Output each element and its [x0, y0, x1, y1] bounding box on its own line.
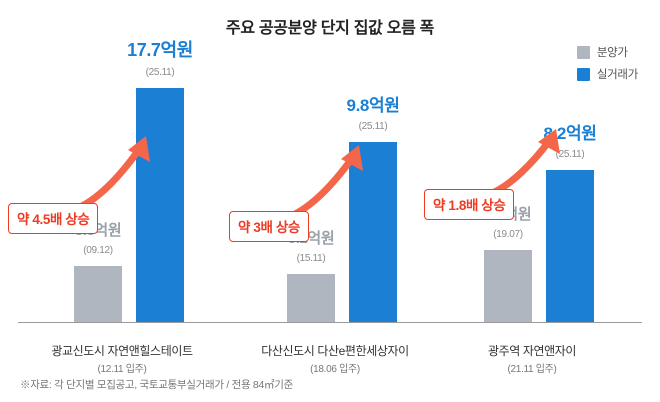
category-label: 광교신도시 자연앤힐스테이트	[22, 342, 222, 359]
bar-date-bunyangga: (19.07)	[458, 229, 558, 240]
bar-date-bunyangga: (15.11)	[261, 253, 361, 264]
bar-group-gwangjuyeok: 4.4억원 (19.07) 8.2억원 (25.11) 약 1.8배 상승 광주…	[442, 60, 642, 322]
chart-plot-area: 3.8억원 (09.12) 17.7억원 (25.11) 약 4.5배 상승 광…	[0, 0, 660, 402]
source-note: ※자료: 각 단지별 모집공고, 국토교통부실거래가 / 전용 84㎡기준	[20, 377, 293, 392]
category-sub-label: (18.06 입주)	[235, 360, 435, 375]
category-label: 다산신도시 다산e편한세상자이	[235, 342, 435, 359]
category-sub-label: (12.11 입주)	[22, 360, 222, 375]
growth-arrow-icon	[70, 134, 160, 214]
bar-group-bars: 3.8억원 (09.12) 17.7억원 (25.11) 약 4.5배 상승	[22, 60, 222, 322]
bar-group-bars: 4.4억원 (19.07) 8.2억원 (25.11) 약 1.8배 상승	[442, 60, 642, 322]
annotation-callout: 약 4.5배 상승	[8, 203, 98, 234]
bar-date-silgeoraega: (25.11)	[323, 121, 423, 132]
annotation-callout: 약 1.8배 상승	[424, 189, 514, 220]
bar-bunyangga	[287, 274, 335, 322]
bar-date-bunyangga: (09.12)	[48, 245, 148, 256]
bar-group-bars: 3.2억원 (15.11) 9.8억원 (25.11) 약 3배 상승	[235, 60, 435, 322]
category-sub-label: (21.11 입주)	[432, 360, 632, 375]
bar-bunyangga	[74, 266, 122, 322]
bar-date-silgeoraega: (25.11)	[110, 67, 210, 78]
bar-value-silgeoraega: 17.7억원	[110, 36, 210, 62]
annotation-callout: 약 3배 상승	[229, 211, 309, 242]
bar-value-silgeoraega: 9.8억원	[323, 91, 423, 116]
bar-group-gwanggyo: 3.8억원 (09.12) 17.7억원 (25.11) 약 4.5배 상승 광…	[22, 60, 222, 322]
bar-group-dasan: 3.2억원 (15.11) 9.8억원 (25.11) 약 3배 상승 다산신도…	[235, 60, 435, 322]
bar-bunyangga	[484, 250, 532, 322]
chart-baseline	[18, 322, 642, 323]
category-label: 광주역 자연앤자이	[432, 342, 632, 359]
